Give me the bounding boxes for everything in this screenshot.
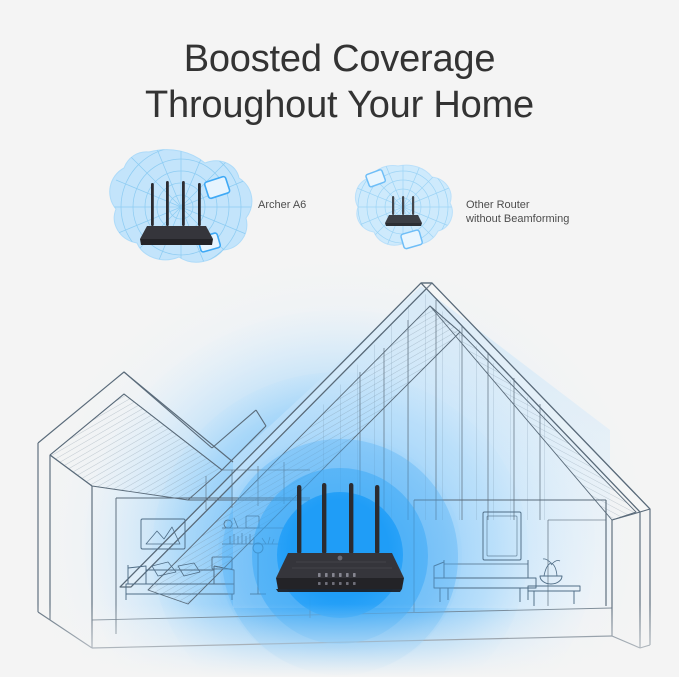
coverage-label-archer-a6: Archer A6 [258,199,306,213]
product-feature-illustration: Boosted Coverage Throughout Your Home Ar… [0,0,679,677]
antenna-2 [322,483,326,554]
brand-mark [338,556,343,561]
antenna-3 [349,483,353,554]
antenna-4 [375,485,379,554]
coverage-blob-archer [110,137,252,277]
antenna-1 [297,485,301,554]
coverage-label-other-router: Other Router without Beamforming [466,199,569,226]
bottom-fade [0,604,679,677]
coverage-scene [0,0,679,677]
